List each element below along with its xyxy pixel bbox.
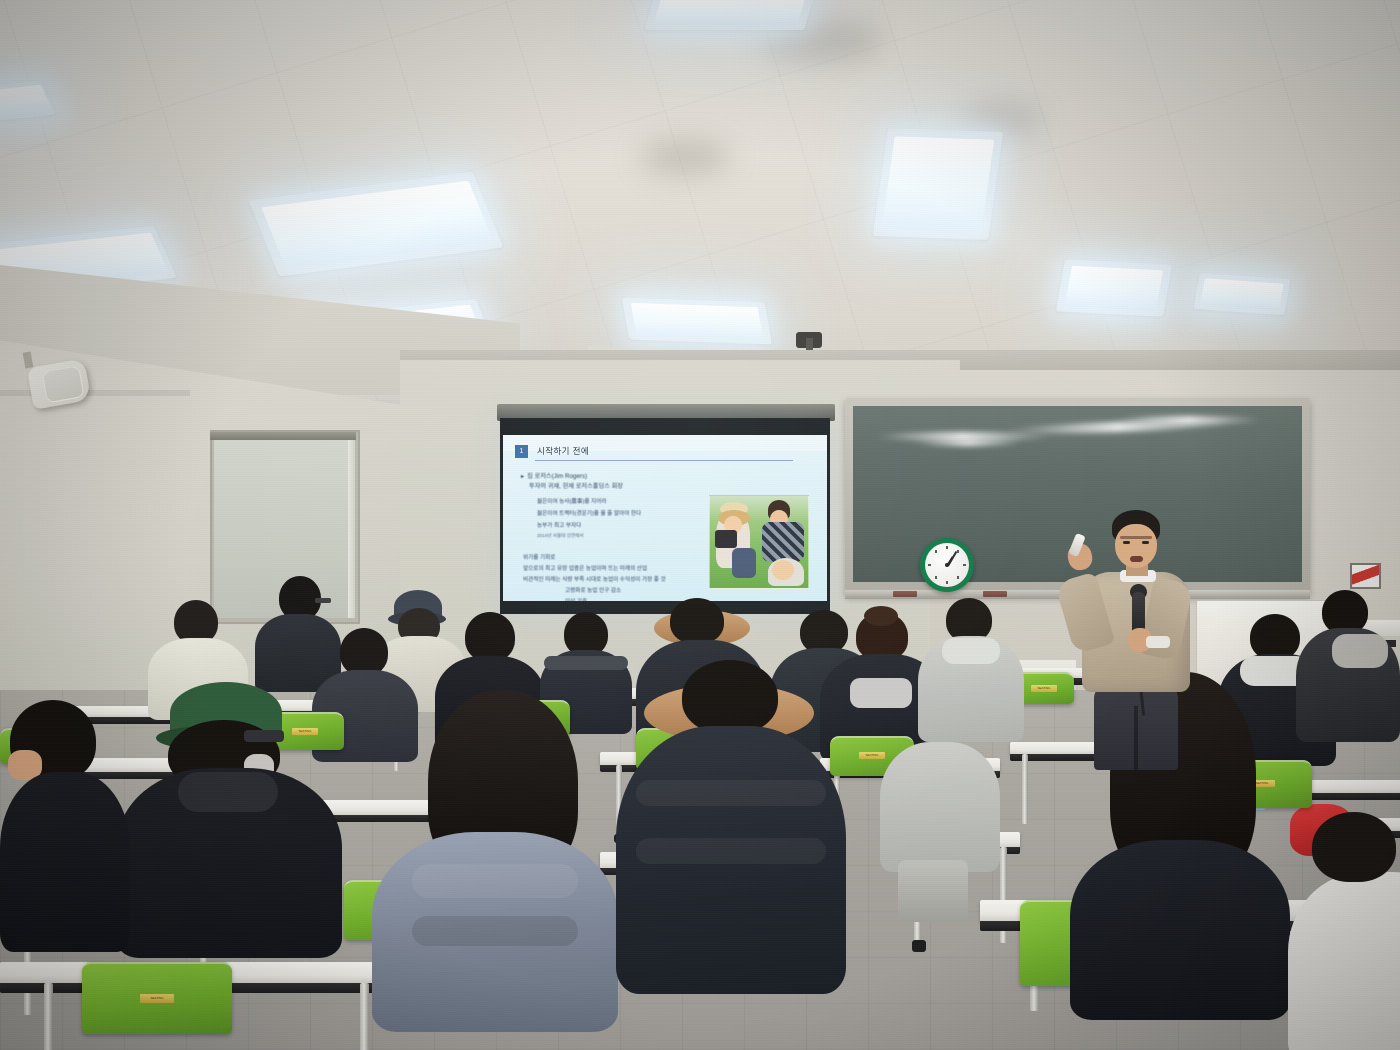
presenter-cuff <box>1146 636 1170 648</box>
classroom-photo: 1 시작하기 전에 ▸짐 로저스(Jim Rogers) 투자의 귀재, 헌재 … <box>0 0 1400 1050</box>
ceiling-light <box>882 136 994 231</box>
slide-quote-source: 2014년 서울대 강연에서 <box>537 533 641 539</box>
student-puffer-jacket <box>616 660 846 990</box>
student-long-hair <box>372 690 618 1020</box>
ceiling-light <box>654 0 807 24</box>
blind-edge <box>348 440 355 618</box>
ceiling-light <box>1200 278 1284 310</box>
eraser[interactable] <box>983 591 1007 597</box>
eyeglasses-icon <box>244 730 284 742</box>
slide-body-line: 비관적인 미래는 식량 부족 시대로 농업이 수익성이 가장 좋 것 <box>523 575 666 583</box>
presenter-brow <box>1120 536 1152 539</box>
notice-graphic <box>1352 565 1379 587</box>
ceiling-light <box>631 303 763 339</box>
slide-body-block: 위기를 기회로 앞으로의 최고 유망 업종은 농업이며 뜨는 미래의 산업 비관… <box>523 553 666 601</box>
fire-safety-notice <box>1350 563 1381 589</box>
eraser[interactable] <box>893 591 917 597</box>
clock-brand-text: · <box>939 571 940 575</box>
student <box>1296 590 1400 740</box>
trousers <box>898 860 968 922</box>
clock-face: · <box>925 543 969 587</box>
slide-number-text: 1 <box>520 448 524 455</box>
student <box>0 700 130 950</box>
presenter-eye-right <box>1142 541 1149 544</box>
slide-quote-line: 젊은이여 농사(農事)를 지어라 <box>537 497 641 505</box>
wall-clock: · <box>920 538 974 592</box>
ceiling-stain <box>640 140 730 174</box>
jacket-seam <box>636 838 826 864</box>
jacket-seam <box>636 780 826 806</box>
scarf <box>1332 634 1388 668</box>
slide-body-heading: 위기를 기회로 <box>523 553 666 561</box>
jacket-seam <box>412 864 578 898</box>
bullet-marker-icon: ▸ <box>521 473 524 480</box>
hood <box>942 638 1000 664</box>
slide-bullet-2: 투자의 귀재, 헌재 로저스홀딩스 회장 <box>529 481 623 490</box>
student <box>880 742 1000 922</box>
presenter-mouth <box>1130 556 1143 562</box>
hair-bun <box>864 606 898 626</box>
slide-body-line: 앞으로의 최고 유망 업종은 농업이며 뜨는 미래의 산업 <box>523 564 666 572</box>
slide-number-badge: 1 <box>515 445 528 458</box>
slide-quote-line: 젊은이여 트랙터(경운기)를 몰 줄 알아야 한다 <box>537 509 641 517</box>
presenter <box>1060 510 1210 760</box>
slide-bullet-1: ▸짐 로저스(Jim Rogers) <box>521 471 587 480</box>
projection-screen: 1 시작하기 전에 ▸짐 로저스(Jim Rogers) 투자의 귀재, 헌재 … <box>500 418 830 614</box>
blind-rail <box>210 432 356 440</box>
slide-title-rule <box>535 460 793 461</box>
hood <box>178 772 278 812</box>
presenter-leg-seam <box>1134 706 1138 770</box>
slide-title: 시작하기 전에 <box>537 445 589 457</box>
student-with-cap <box>116 676 342 946</box>
logo-patch <box>850 678 912 708</box>
slide-body-line: 고령화로 농업 인구 감소 <box>565 586 666 594</box>
clock-center-pin <box>945 563 949 567</box>
jacket-seam <box>412 916 578 946</box>
student <box>1288 852 1400 1050</box>
slide-quote-line: 농부가 최고 부자다 <box>537 521 641 529</box>
slide-quote-block: 젊은이여 농사(農事)를 지어라 젊은이여 트랙터(경운기)를 몰 줄 알아야 … <box>537 497 641 539</box>
wall-trim <box>0 390 190 396</box>
ceiling-light <box>1065 266 1163 311</box>
chair-label: SEATING <box>140 994 174 1003</box>
speaker-grille <box>42 365 85 403</box>
presentation-slide: 1 시작하기 전에 ▸짐 로저스(Jim Rogers) 투자의 귀재, 헌재 … <box>503 435 827 601</box>
chair[interactable]: SEATING <box>82 962 232 1032</box>
student <box>918 598 1024 740</box>
chair-label: SEATING <box>1031 685 1057 692</box>
eyeglasses-icon <box>315 598 331 603</box>
presenter-eye-left <box>1123 541 1130 544</box>
slide-photo <box>709 495 809 589</box>
